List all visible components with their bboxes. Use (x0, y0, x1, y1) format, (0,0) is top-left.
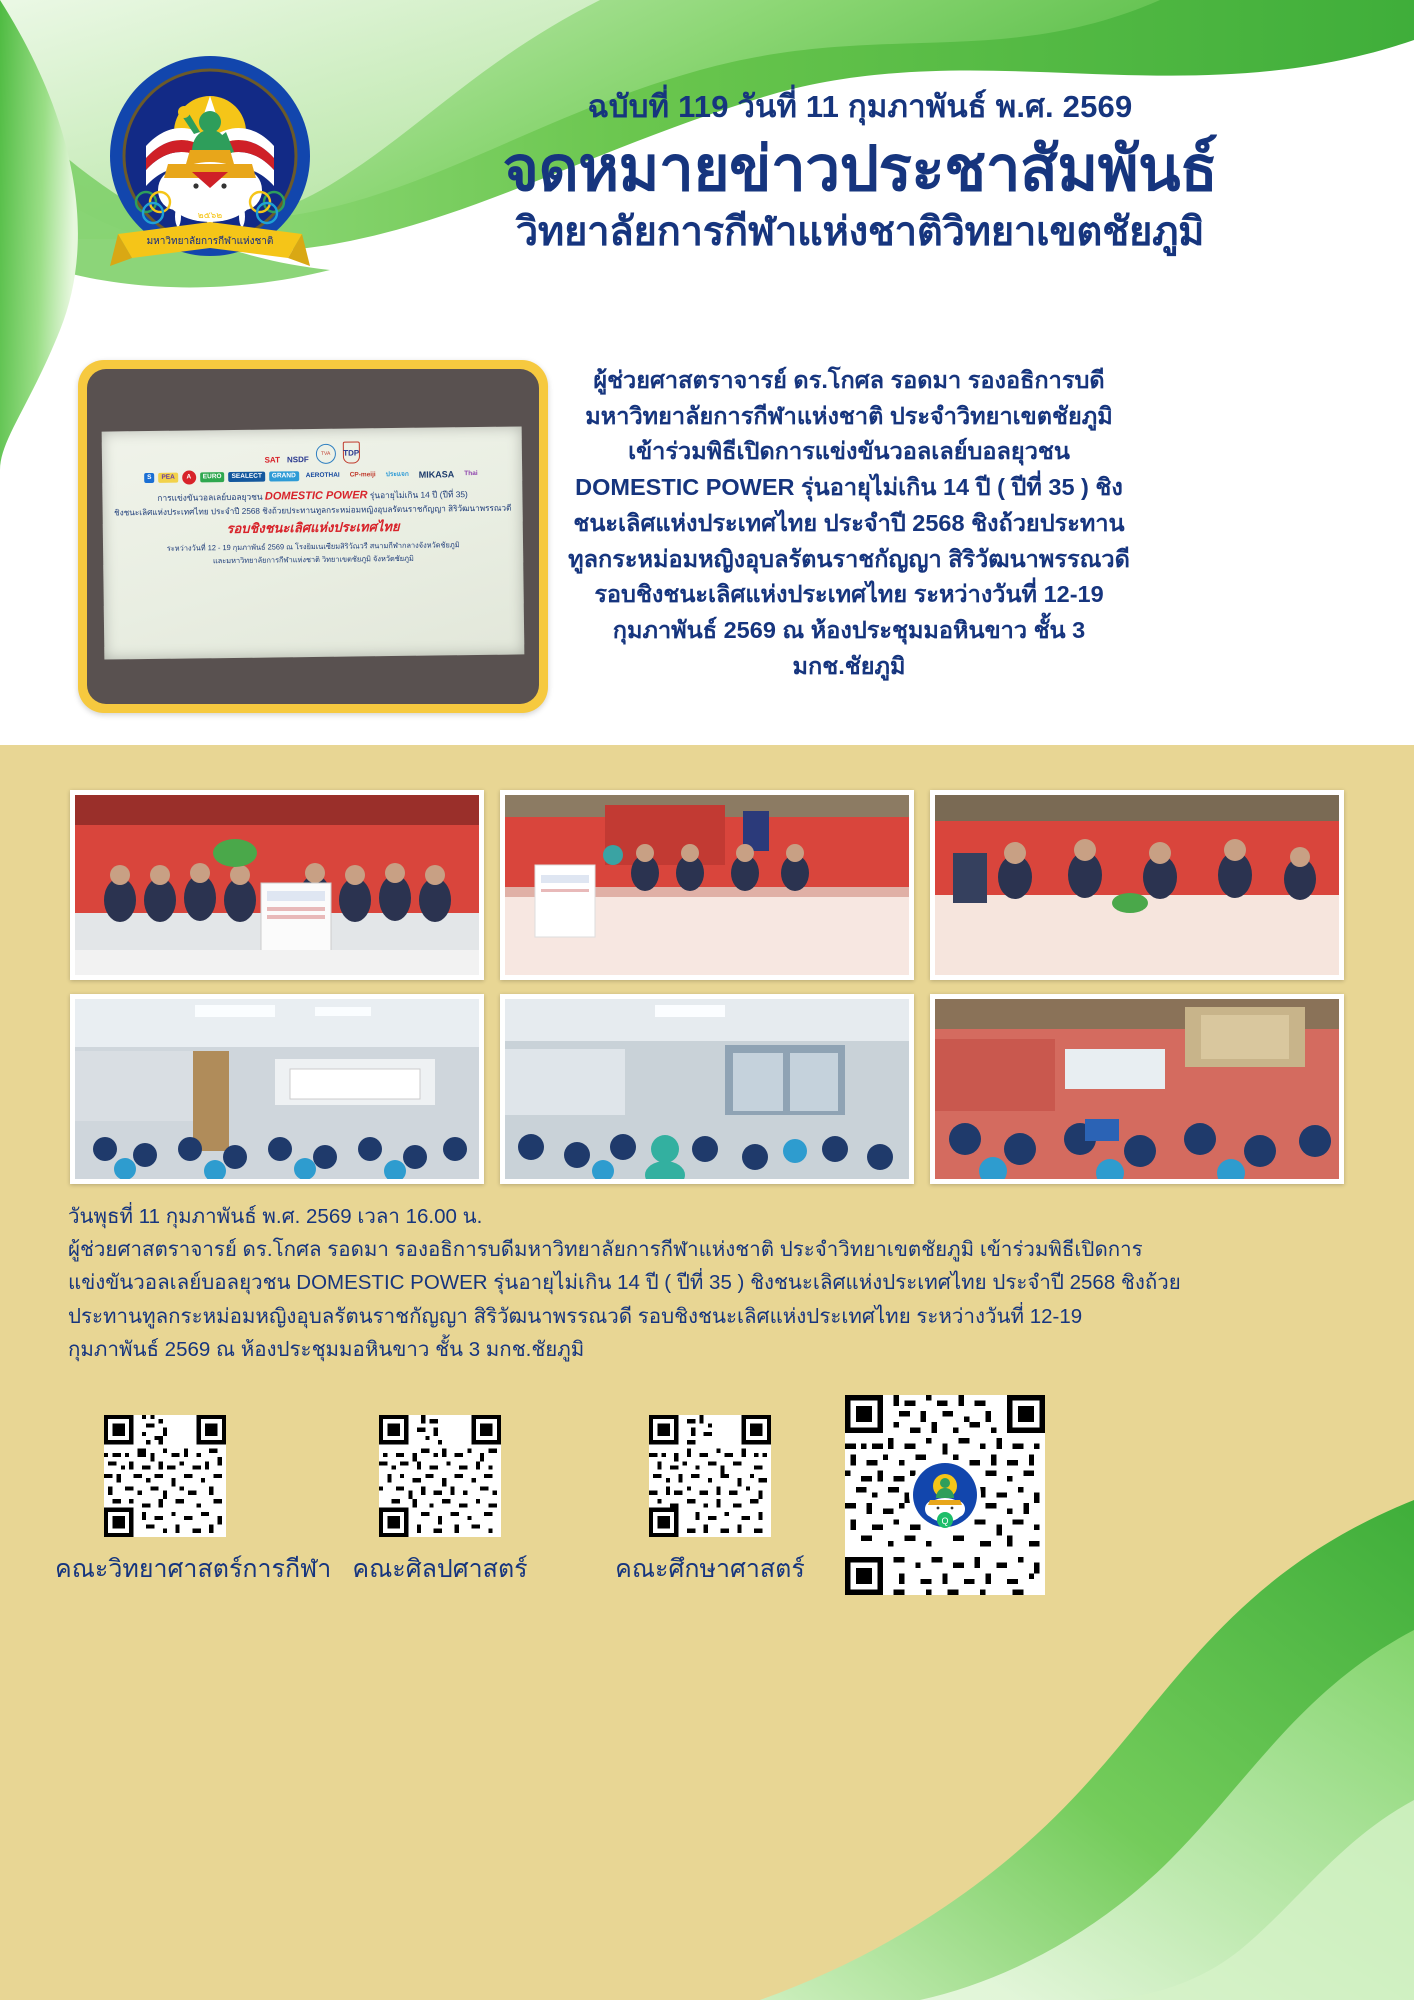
qr-code-image[interactable] (649, 1415, 771, 1537)
photo-officials-head-table (935, 795, 1339, 975)
projector-photo: SAT NSDF TVA TDP S PEA A EURO SEALECT GR… (87, 369, 539, 704)
qr-label: คณะศึกษาศาสตร์ (600, 1549, 820, 1589)
sponsor-logo-grandsport: GRAND (269, 471, 299, 482)
svg-text:Q: Q (941, 1516, 948, 1526)
sponsor-logo-mikasa: MIKASA (416, 468, 458, 482)
caption-line-1: วันพุธที่ 11 กุมภาพันธ์ พ.ศ. 2569 เวลา 1… (68, 1200, 1248, 1233)
slide-sponsor-row: S PEA A EURO SEALECT GRAND AEROTHAI CP-m… (110, 467, 515, 486)
slide-line1-brand: DOMESTIC POWER (265, 490, 368, 503)
issue-line: ฉบับที่ 119 วันที่ 11 กุมภาพันธ์ พ.ศ. 25… (330, 88, 1390, 127)
photo-cell (930, 790, 1344, 980)
photo-cell (500, 790, 914, 980)
caption-line-2: ผู้ช่วยศาสตราจารย์ ดร.โกศล รอดมา รองอธิก… (68, 1233, 1248, 1266)
photo-audience-seated-rows (505, 999, 909, 1179)
emblem-banner-text: มหาวิทยาลัยการกีฬาแห่งชาติ (147, 235, 274, 247)
photo-cell (70, 994, 484, 1184)
tva-logo-icon: TVA (315, 444, 335, 464)
lead-paragraph: ผู้ช่วยศาสตราจารย์ ดร.โกศล รอดมา รองอธิก… (566, 363, 1132, 684)
projected-slide: SAT NSDF TVA TDP S PEA A EURO SEALECT GR… (101, 427, 524, 660)
slide-line1-suffix: รุ่นอายุไม่เกิน 14 ปี (ปีที่ 35) (370, 489, 468, 500)
qr-code-row: คณะวิทยาศาสตร์การกีฬา (0, 1385, 1414, 1635)
slide-highlight-text: รอบชิงชนะเลิศแห่งประเทศไทย (111, 518, 516, 540)
sponsor-logo-pea: PEA (158, 473, 178, 484)
slide-line1-prefix: การแข่งขันวอลเลย์บอลยุวชน (157, 492, 262, 503)
photo-cell (70, 790, 484, 980)
newsletter-poster: มหาวิทยาลัยการกีฬาแห่งชาติ ๒๕๖๒ ฉบับที่ … (0, 0, 1414, 2000)
qr-faculty-sport-science[interactable]: คณะวิทยาศาสตร์การกีฬา (55, 1415, 275, 1589)
photo-group-with-banner (75, 795, 479, 975)
projector-photo-card: SAT NSDF TVA TDP S PEA A EURO SEALECT GR… (78, 360, 548, 713)
qr-faculty-liberal-arts[interactable]: คณะศิลปศาสตร์ (330, 1415, 550, 1589)
photo-attendees-back-view (935, 999, 1339, 1179)
qr-faculty-education[interactable]: คณะศึกษาศาสตร์ (600, 1415, 820, 1589)
photo-head-table-speakers (505, 795, 909, 975)
qr-main-university[interactable]: Q (845, 1395, 1045, 1595)
sponsor-logo-aerothai: AEROTHAI (303, 471, 343, 482)
sponsor-logo-thaioil: Thai (461, 469, 481, 480)
page-subtitle: วิทยาลัยการกีฬาแห่งชาติวิทยาเขตชัยภูมิ (330, 208, 1390, 256)
sponsor-logo-s: S (144, 473, 154, 484)
photo-cell (930, 994, 1344, 1184)
qr-code-image[interactable] (104, 1415, 226, 1537)
page-title: จดหมายข่าวประชาสัมพันธ์ (330, 133, 1390, 206)
qr-label: คณะวิทยาศาสตร์การกีฬา (55, 1549, 275, 1589)
university-emblem: มหาวิทยาลัยการกีฬาแห่งชาติ ๒๕๖๒ (106, 52, 314, 270)
photo-caption: วันพุธที่ 11 กุมภาพันธ์ พ.ศ. 2569 เวลา 1… (68, 1200, 1248, 1366)
caption-line-5: กุมภาพันธ์ 2569 ณ ห้องประชุมมอหินขาว ชั้… (68, 1333, 1248, 1366)
slide-top-logo-row: SAT NSDF TVA TDP (110, 436, 515, 467)
tdp-logo-icon: TDP (342, 442, 359, 464)
photo-cell (500, 994, 914, 1184)
sat-logo-icon: SAT (264, 457, 280, 465)
emblem-year-text: ๒๕๖๒ (198, 210, 222, 220)
photo-hall-wide-view (75, 999, 479, 1179)
caption-line-3: แข่งขันวอลเลย์บอลยุวชน DOMESTIC POWER รุ… (68, 1266, 1248, 1299)
caption-line-4: ประทานทูลกระหม่อมหญิงอุบลรัตนราชกัญญา สิ… (68, 1300, 1248, 1333)
sponsor-logo-eurocake: EURO (200, 472, 225, 483)
sponsor-logo-cpmeiji: CP-meiji (346, 470, 378, 481)
sponsor-logo-a: A (182, 471, 196, 485)
sponsor-logo-sealect: SEALECT (228, 472, 264, 483)
qr-center-emblem-icon: Q (908, 1458, 982, 1532)
qr-code-image[interactable] (379, 1415, 501, 1537)
nsdf-logo-icon: NSDF (287, 456, 309, 464)
sponsor-logo-prachuap: ประแจก (382, 470, 411, 481)
upper-content-section: SAT NSDF TVA TDP S PEA A EURO SEALECT GR… (0, 345, 1414, 745)
qr-label: คณะศิลปศาสตร์ (330, 1549, 550, 1589)
poster-header: ฉบับที่ 119 วันที่ 11 กุมภาพันธ์ พ.ศ. 25… (330, 88, 1390, 256)
photo-gallery-panel: วันพุธที่ 11 กุมภาพันธ์ พ.ศ. 2569 เวลา 1… (0, 745, 1414, 2000)
photo-grid (70, 790, 1344, 1184)
